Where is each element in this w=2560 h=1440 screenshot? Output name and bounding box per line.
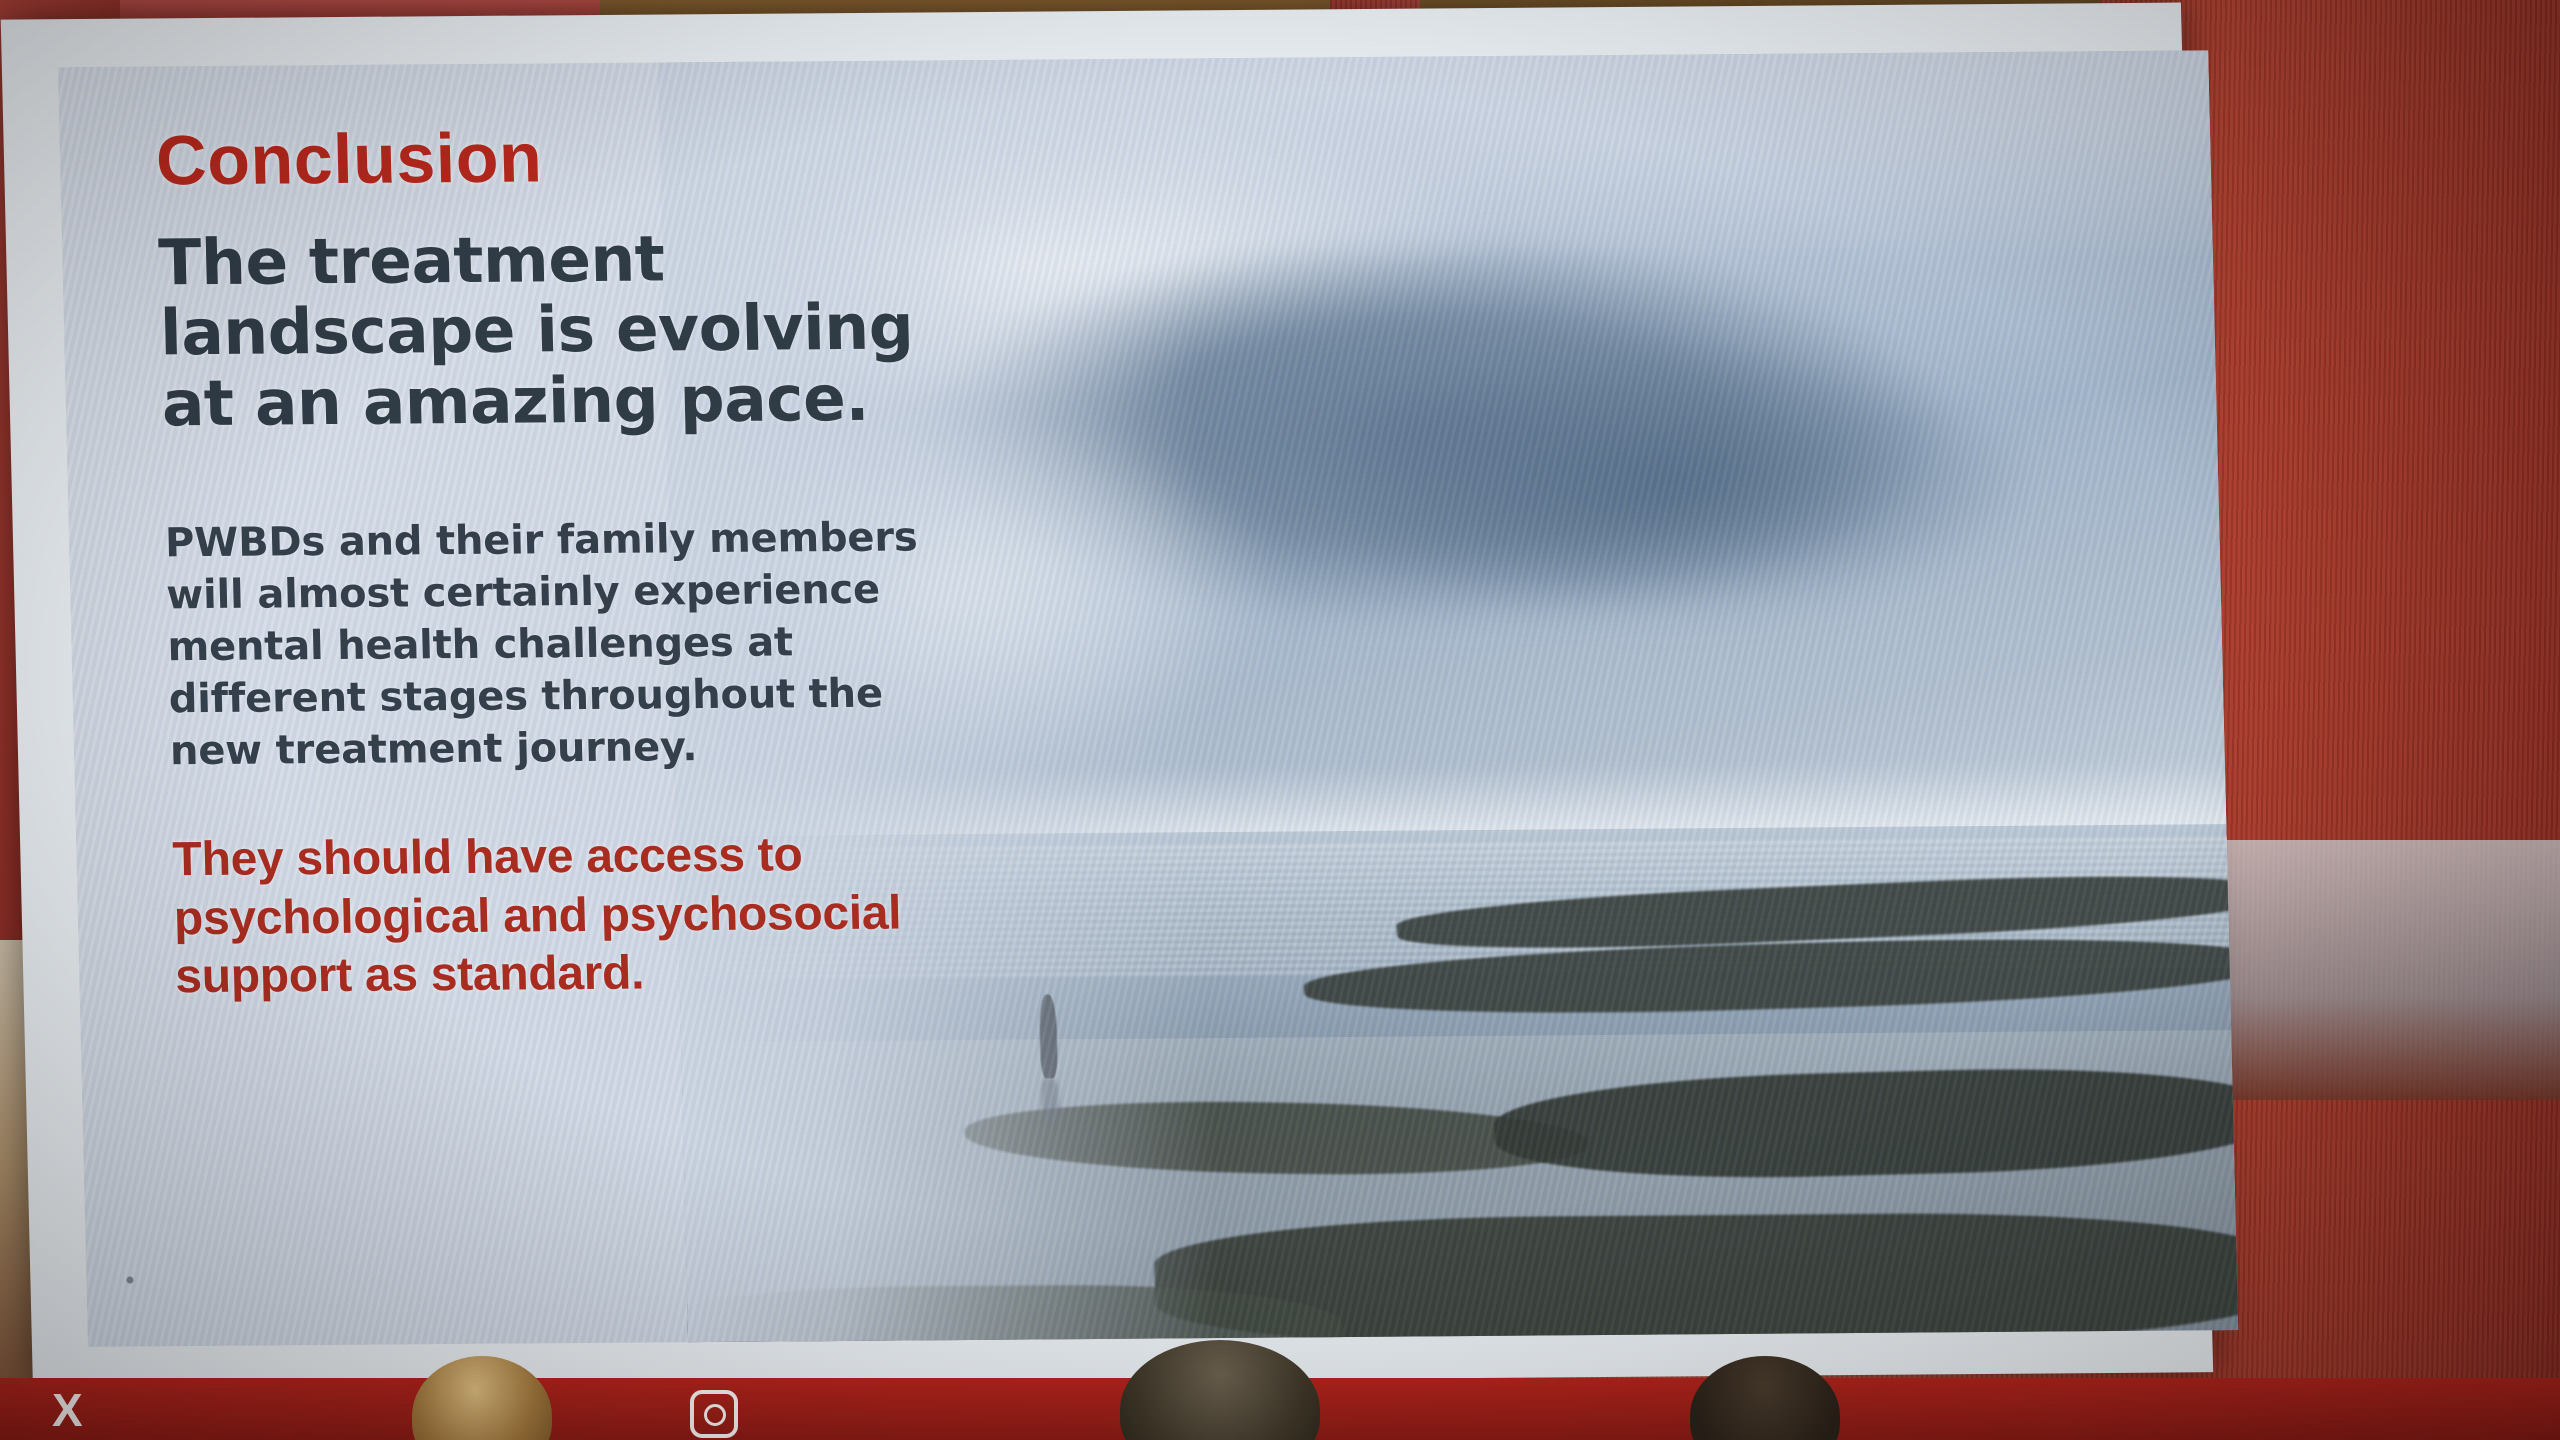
slide-body-paragraph: PWBDs and their family members will almo… xyxy=(164,511,950,777)
instagram-icon[interactable] xyxy=(690,1390,738,1438)
wall-right-ledge xyxy=(2200,840,2560,1100)
slide-headline: The treatment landscape is evolving at a… xyxy=(158,222,943,440)
projection-screen-wrapper: Conclusion The treatment landscape is ev… xyxy=(0,0,2254,1410)
slide-text-column: Conclusion The treatment landscape is ev… xyxy=(155,118,956,1007)
slide-callout-paragraph: They should have access to psychological… xyxy=(172,825,956,1007)
photo-cloud-dark-2 xyxy=(1289,335,2045,625)
slide-title: Conclusion xyxy=(155,118,937,198)
projection-screen-frame: Conclusion The treatment landscape is ev… xyxy=(1,3,2213,1390)
conference-room-scene: Conclusion The treatment landscape is ev… xyxy=(0,0,2560,1440)
slide-corner-dot xyxy=(126,1277,133,1284)
presentation-slide: Conclusion The treatment landscape is ev… xyxy=(58,50,2238,1347)
x-twitter-icon[interactable]: X xyxy=(52,1390,83,1430)
